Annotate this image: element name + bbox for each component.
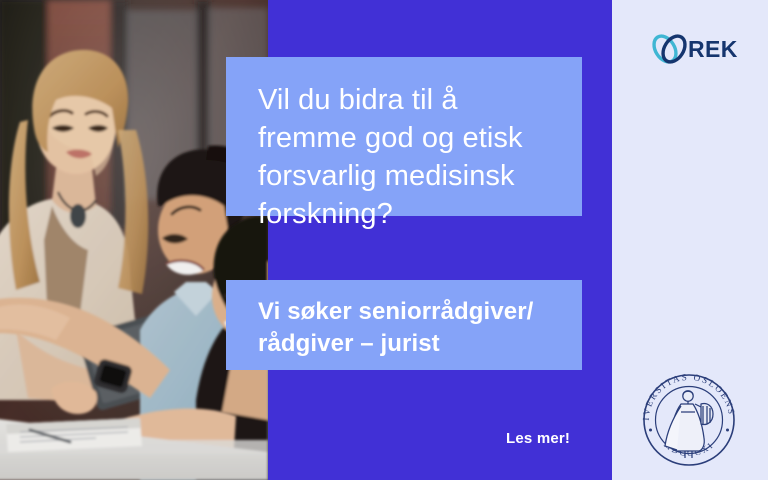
read-more-link[interactable]: Les mer! <box>506 430 570 448</box>
rek-rings-icon <box>648 27 692 71</box>
job-title-card: Vi søker seniorrådgiver/ rådgiver – juri… <box>226 280 582 370</box>
headline-card: Vil du bidra til å fremme god og etisk f… <box>226 57 582 216</box>
uio-seal[interactable]: UNIVERSITAS OSLOENSIS MDCCCXI <box>637 368 741 472</box>
uio-seal-icon: UNIVERSITAS OSLOENSIS MDCCCXI <box>637 368 741 472</box>
headline-text: Vil du bidra til å fremme god og etisk f… <box>258 81 554 233</box>
recruitment-banner: Vil du bidra til å fremme god og etisk f… <box>0 0 768 480</box>
job-title-text: Vi søker seniorrådgiver/ rådgiver – juri… <box>258 296 562 360</box>
rek-logo[interactable]: REK <box>648 25 740 73</box>
rek-wordmark: REK <box>688 36 738 63</box>
